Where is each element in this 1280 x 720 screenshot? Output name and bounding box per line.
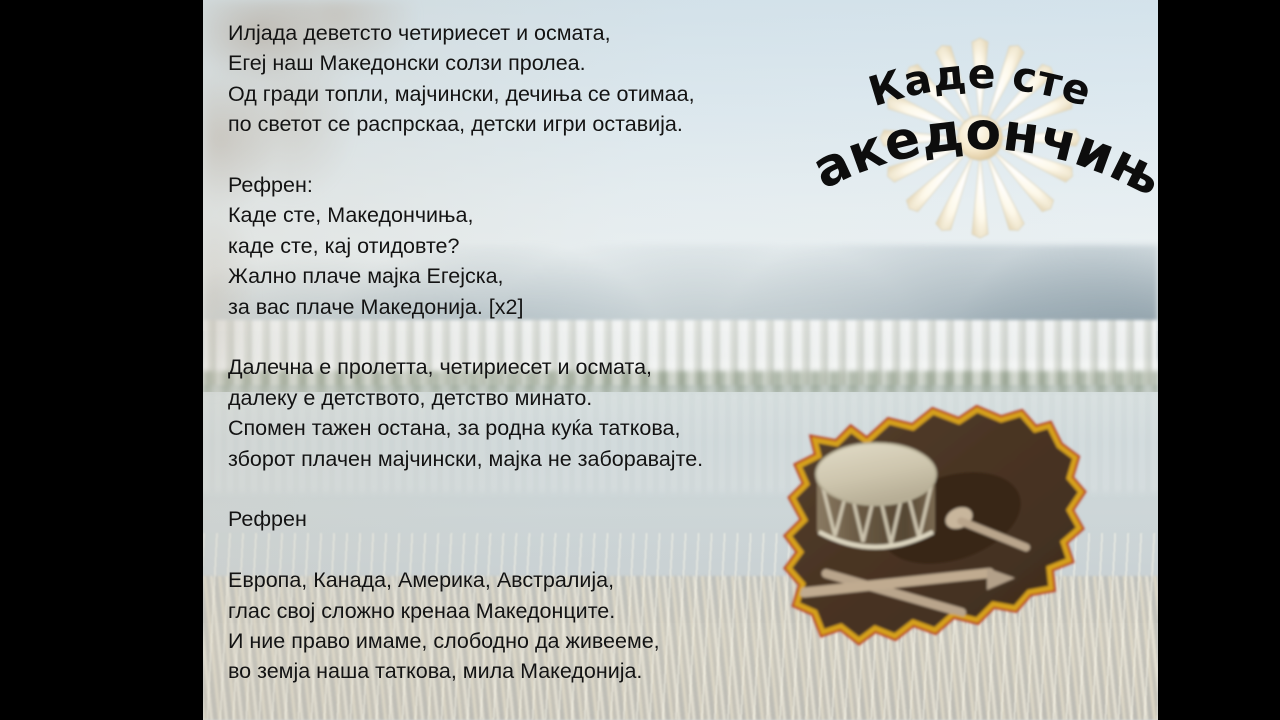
title-line-2: Македончиња xyxy=(789,0,1158,209)
lyrics-line: Рефрен xyxy=(228,504,788,534)
lyrics-line: зборот плачен мајчински, мајка не забора… xyxy=(228,444,788,474)
lyrics-line: Егеј наш Македонски солзи пролеа. xyxy=(228,48,788,78)
lyrics-stanza-chorus-1: Рефрен:Каде сте, Македончиња,каде сте, к… xyxy=(228,170,788,322)
lyrics-line: Жално плаче мајка Егејска, xyxy=(228,261,788,291)
lyrics-stanza-verse-2: Далечна е пролетта, четириесет и осмата,… xyxy=(228,352,788,474)
lyrics-line: Европа, Канада, Америка, Австралија, xyxy=(228,565,788,595)
lyrics-line: Рефрен: xyxy=(228,170,788,200)
lyrics-text: Илјада деветсто четириесет и осмата,Егеј… xyxy=(228,18,788,720)
lyrics-line: Спомен тажен остана, за родна куќа татко… xyxy=(228,413,788,443)
lyrics-line: за вас плаче Македонија. [x2] xyxy=(228,292,788,322)
lyrics-line: глас свој сложно кренаа Македонците. xyxy=(228,596,788,626)
letterbox-bar-right xyxy=(1158,0,1280,720)
lyrics-line: Илјада деветсто четириесет и осмата, xyxy=(228,18,788,48)
lyrics-line: во земја наша таткова, мила Македонија. xyxy=(228,656,788,686)
lyrics-stanza-chorus-2: Рефрен xyxy=(228,504,788,534)
lyrics-line: по светот се распрскаа, детски игри оста… xyxy=(228,109,788,139)
lyrics-line: Каде сте, Македончиња, xyxy=(228,200,788,230)
letterbox-bar-left xyxy=(0,0,203,720)
lyrics-stanza-verse-3: Европа, Канада, Америка, Австралија,глас… xyxy=(228,565,788,687)
lyrics-line: И ние право имаме, слободно да живееме, xyxy=(228,626,788,656)
video-frame: Илјада деветсто четириесет и осмата,Егеј… xyxy=(0,0,1280,720)
lyrics-line: каде сте, кај отидовте? xyxy=(228,231,788,261)
lyrics-line: Од гради топли, мајчински, дечиња се оти… xyxy=(228,79,788,109)
macedonia-map-artwork xyxy=(763,392,1093,654)
lyrics-line: далеку е детството, детство минато. xyxy=(228,383,788,413)
lyrics-stanza-verse-1: Илјада деветсто четириесет и осмата,Егеј… xyxy=(228,18,788,140)
title-artwork: Каде сте Македончиња xyxy=(815,4,1145,304)
lyrics-line: Далечна е пролетта, четириесет и осмата, xyxy=(228,352,788,382)
background-photo: Илјада деветсто четириесет и осмата,Егеј… xyxy=(203,0,1158,720)
